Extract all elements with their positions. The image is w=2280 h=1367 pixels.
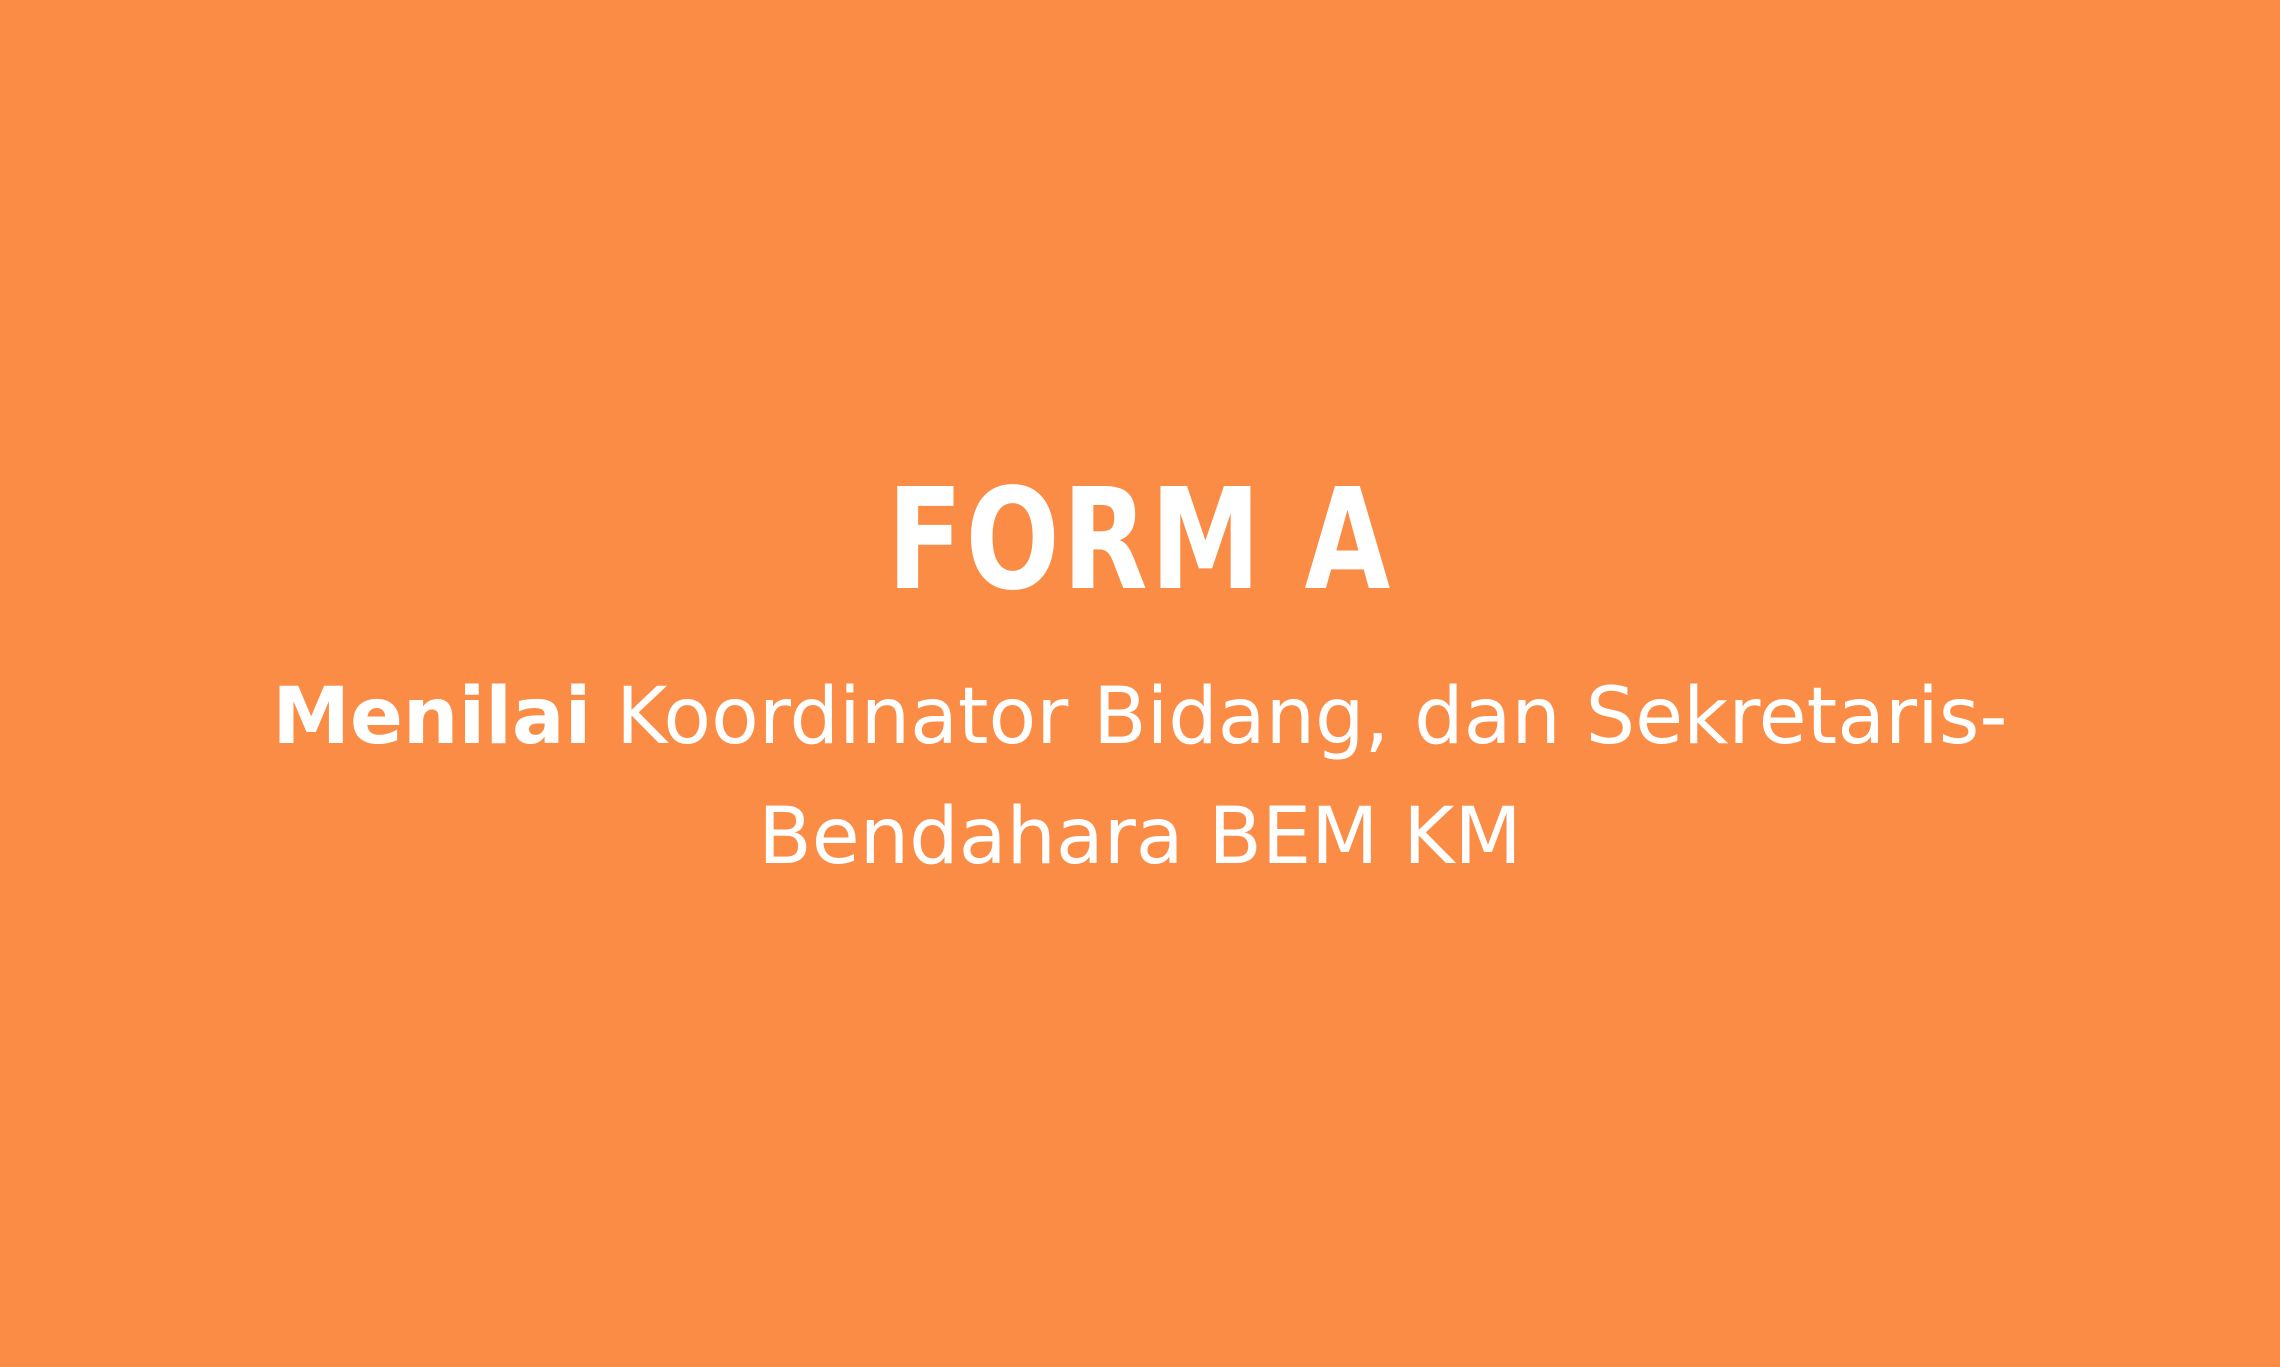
subtitle-emphasis-word: Menilai xyxy=(272,672,591,762)
slide-content: FORM A Menilai Koordinator Bidang, dan S… xyxy=(0,0,2280,1367)
subtitle-line-2: Bendahara BEM KM xyxy=(235,777,2045,897)
subtitle-line-1-rest: Koordinator Bidang, dan Sekretaris- xyxy=(591,672,2007,762)
subtitle-block: Menilai Koordinator Bidang, dan Sekretar… xyxy=(235,657,2045,897)
title-block: FORM A xyxy=(0,471,2280,611)
subtitle-line-1: Menilai Koordinator Bidang, dan Sekretar… xyxy=(235,657,2045,777)
page-title: FORM A xyxy=(137,471,2143,611)
slide-canvas: FORM A Menilai Koordinator Bidang, dan S… xyxy=(0,0,2280,1367)
